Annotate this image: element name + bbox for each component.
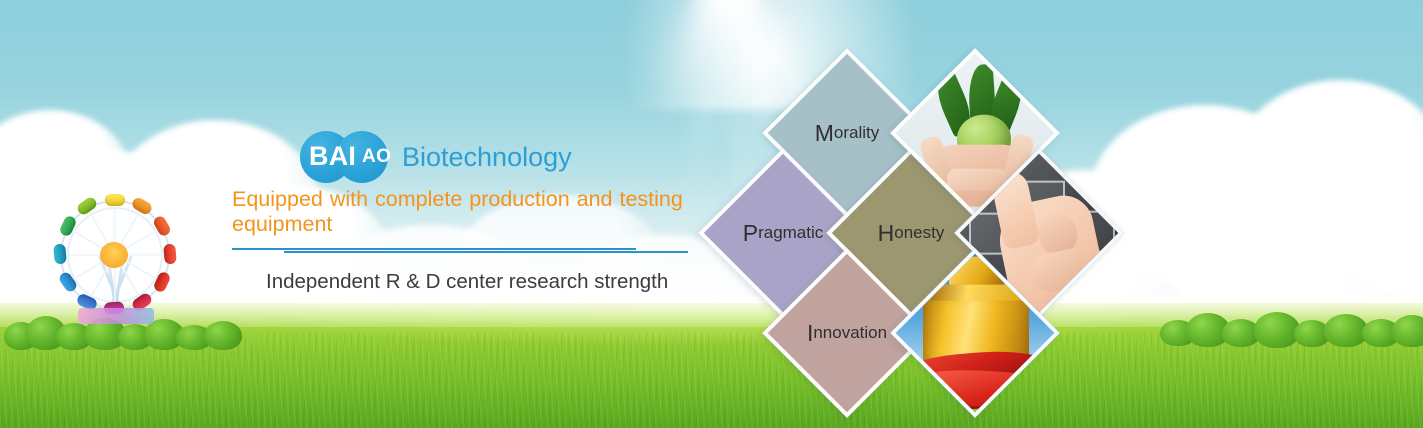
value-rest: onesty <box>894 223 944 243</box>
value-tile-label: Innovation <box>791 277 903 389</box>
logo-text-bai: BAI <box>309 140 356 172</box>
headline-text: Equipped with complete production and te… <box>232 187 712 237</box>
logo-text-ao: AO <box>362 145 391 169</box>
headline-block: BAI AO Biotechnology Equipped with compl… <box>232 131 732 295</box>
brand-logo[interactable]: BAI AO Biotechnology <box>300 131 732 179</box>
value-initial: M <box>815 120 834 147</box>
logo-wordmark: Biotechnology <box>402 141 572 173</box>
value-rest: nnovation <box>813 323 887 343</box>
promotional-banner: BAI AO Biotechnology Equipped with compl… <box>0 0 1423 428</box>
values-diamond-grid: Morality Pragmatic Honesty Innovation <box>727 47 1207 397</box>
divider-line-upper <box>232 248 636 250</box>
value-initial: P <box>743 220 758 247</box>
divider-line-lower <box>284 251 688 253</box>
divider <box>232 243 732 255</box>
value-initial: H <box>878 220 895 247</box>
ferris-wheel-icon <box>40 196 190 346</box>
subheadline-text: Independent R & D center research streng… <box>266 269 732 295</box>
value-rest: orality <box>834 123 879 143</box>
value-rest: ragmatic <box>758 223 823 243</box>
